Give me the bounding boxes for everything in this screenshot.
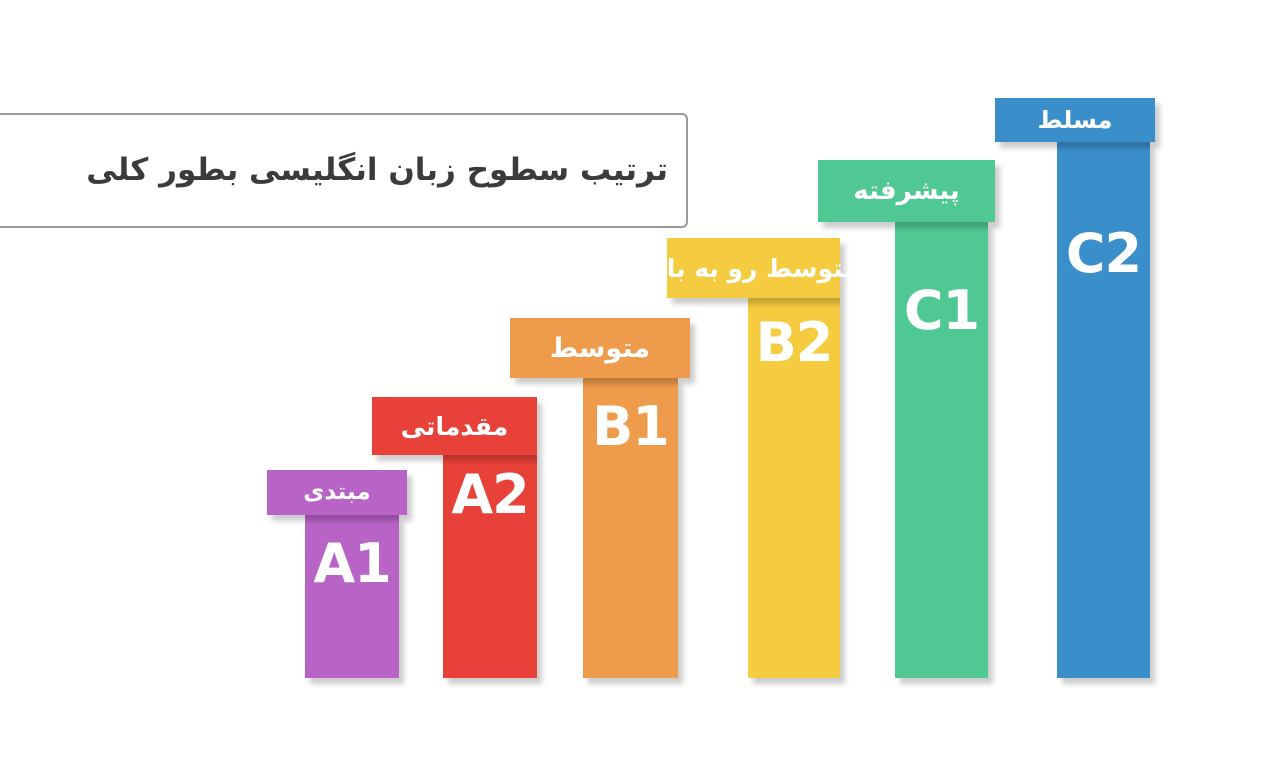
bar-label-text-a1: مبتدی <box>303 481 370 504</box>
title-box: ترتیب سطوح زبان انگلیسی بطور کلی <box>0 113 688 228</box>
bar-code-b1: B1 <box>583 400 678 454</box>
bar-label-tab-c1[interactable]: پیشرفته <box>818 160 995 222</box>
chart-canvas: ترتیب سطوح زبان انگلیسی بطور کلی A1مبتدی… <box>0 0 1284 765</box>
bar-label-text-c1: پیشرفته <box>853 178 959 204</box>
bar-label-tab-c2[interactable]: مسلط <box>995 98 1155 142</box>
bar-label-tab-a1[interactable]: مبتدی <box>267 470 407 515</box>
bar-c1[interactable]: C1 <box>895 222 988 678</box>
bar-label-text-b2: متوسط رو به بالا <box>648 256 859 281</box>
bar-code-c1: C1 <box>895 284 988 338</box>
bar-label-tab-b2[interactable]: متوسط رو به بالا <box>667 238 840 298</box>
bar-label-tab-a2[interactable]: مقدماتی <box>372 397 537 455</box>
bar-label-text-b1: متوسط <box>550 335 650 362</box>
page-title: ترتیب سطوح زبان انگلیسی بطور کلی <box>86 152 668 189</box>
bar-a1[interactable]: A1 <box>305 515 399 678</box>
bar-label-text-a2: مقدماتی <box>401 414 508 439</box>
bar-code-b2: B2 <box>748 316 840 370</box>
bar-a2[interactable]: A2 <box>443 455 537 678</box>
bar-code-a2: A2 <box>443 468 537 522</box>
bar-code-a1: A1 <box>305 537 399 591</box>
bar-b2[interactable]: B2 <box>748 298 840 678</box>
bar-c2[interactable]: C2 <box>1057 142 1150 678</box>
bar-code-c2: C2 <box>1057 227 1150 281</box>
bar-label-tab-b1[interactable]: متوسط <box>510 318 690 378</box>
bar-label-text-c2: مسلط <box>1038 108 1113 132</box>
bar-b1[interactable]: B1 <box>583 378 678 678</box>
